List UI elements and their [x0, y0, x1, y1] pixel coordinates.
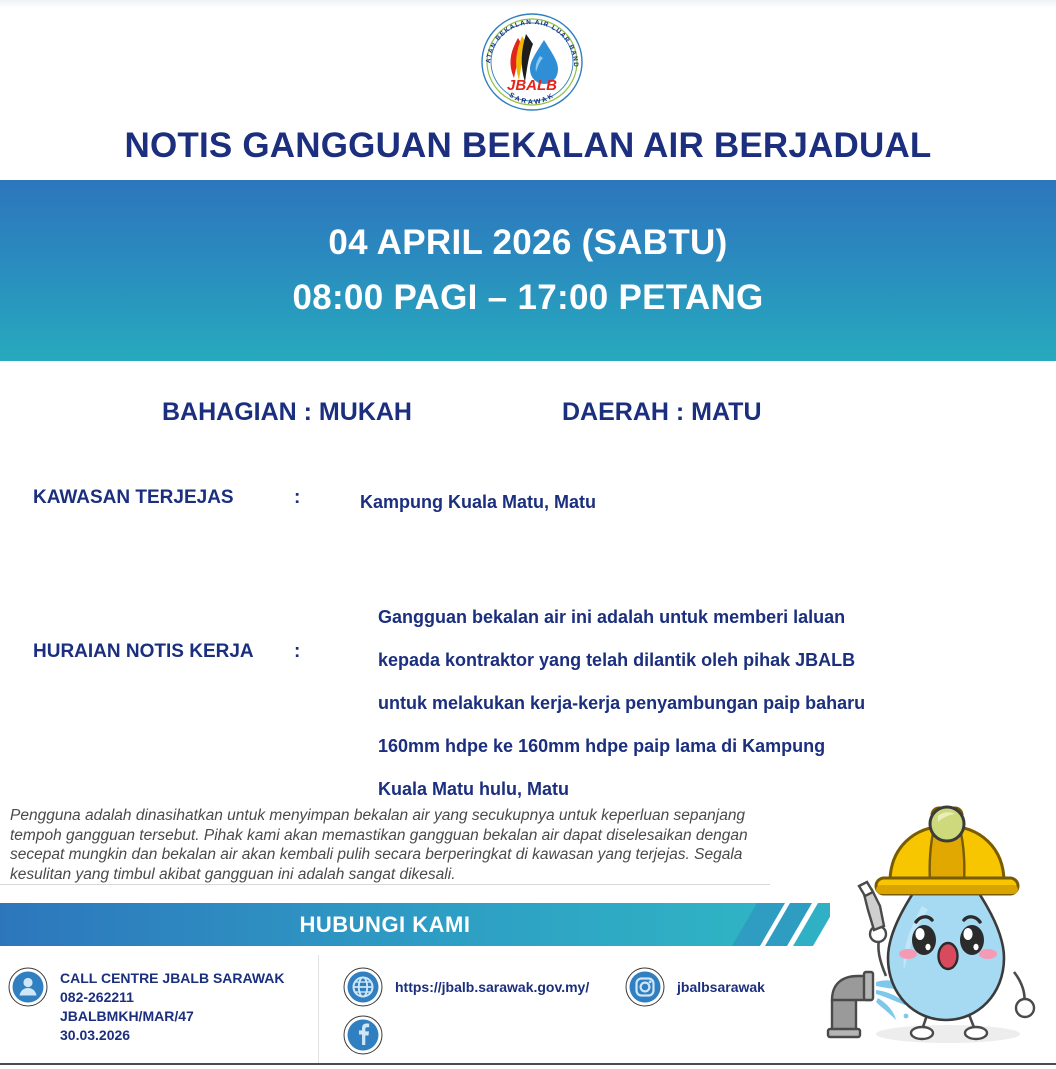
region-row: BAHAGIAN : MUKAH DAERAH : MATU: [0, 398, 1056, 434]
mascot: [818, 786, 1056, 1064]
contact-banner: HUBUNGI KAMI: [0, 903, 830, 946]
contact-banner-title: HUBUNGI KAMI: [0, 912, 770, 938]
facebook-icon[interactable]: [343, 1015, 383, 1055]
jbalb-logo-icon: JABATAN BEKALAN AIR LUAR BANDAR SARAWAK …: [478, 10, 586, 114]
huraian-notis-kerja-value: Gangguan bekalan air ini adalah untuk me…: [378, 596, 978, 811]
huraian-line: kepada kontraktor yang telah dilantik ol…: [378, 639, 978, 682]
notice-date: 04 APRIL 2026 (SABTU): [328, 216, 727, 270]
svg-text:JBALB: JBALB: [507, 77, 557, 94]
huraian-notis-kerja-colon: :: [294, 641, 300, 663]
kawasan-terjejas-label: KAWASAN TERJEJAS: [33, 487, 234, 509]
water-droplet-mascot-icon: [818, 786, 1056, 1064]
huraian-line: 160mm hdpe ke 160mm hdpe paip lama di Ka…: [378, 725, 978, 768]
footer-divider: [318, 955, 319, 1063]
disclaimer-divider: [0, 884, 770, 885]
yellow-hard-hat-icon: [876, 807, 1018, 894]
huraian-notis-kerja-label: HURAIAN NOTIS KERJA: [33, 641, 254, 663]
top-strip: [0, 0, 1056, 7]
leaking-pipe-icon: [828, 972, 873, 1037]
call-centre-date: 30.03.2026: [60, 1026, 285, 1045]
daerah-label: DAERAH : MATU: [562, 398, 762, 427]
notice-time: 08:00 PAGI – 17:00 PETANG: [292, 271, 763, 325]
bahagian-label: BAHAGIAN : MUKAH: [162, 398, 412, 427]
date-time-banner: 04 APRIL 2026 (SABTU) 08:00 PAGI – 17:00…: [0, 180, 1056, 361]
kawasan-terjejas-colon: :: [294, 487, 300, 509]
instagram-icon[interactable]: [625, 967, 665, 1007]
website-label[interactable]: https://jbalb.sarawak.gov.my/: [395, 978, 589, 997]
call-centre-lines: CALL CENTRE JBALB SARAWAK 082-262211 JBA…: [60, 969, 285, 1045]
call-centre-phone: 082-262211: [60, 988, 285, 1007]
notice-page: JABATAN BEKALAN AIR LUAR BANDAR SARAWAK …: [0, 0, 1056, 1069]
wrench-icon: [859, 882, 886, 976]
person-icon: [8, 967, 48, 1007]
call-centre-refno: JBALBMKH/MAR/47: [60, 1007, 285, 1026]
page-title: NOTIS GANGGUAN BEKALAN AIR BERJADUAL: [0, 126, 1056, 166]
huraian-line: untuk melakukan kerja-kerja penyambungan…: [378, 682, 978, 725]
globe-icon[interactable]: [343, 967, 383, 1007]
huraian-line: Gangguan bekalan air ini adalah untuk me…: [378, 596, 978, 639]
instagram-label[interactable]: jbalbsarawak: [677, 978, 765, 997]
kawasan-terjejas-value: Kampung Kuala Matu, Matu: [360, 492, 596, 513]
jbalb-logo: JABATAN BEKALAN AIR LUAR BANDAR SARAWAK …: [478, 10, 586, 114]
disclaimer-text: Pengguna adalah dinasihatkan untuk menyi…: [10, 806, 770, 884]
call-centre-title: CALL CENTRE JBALB SARAWAK: [60, 969, 285, 988]
